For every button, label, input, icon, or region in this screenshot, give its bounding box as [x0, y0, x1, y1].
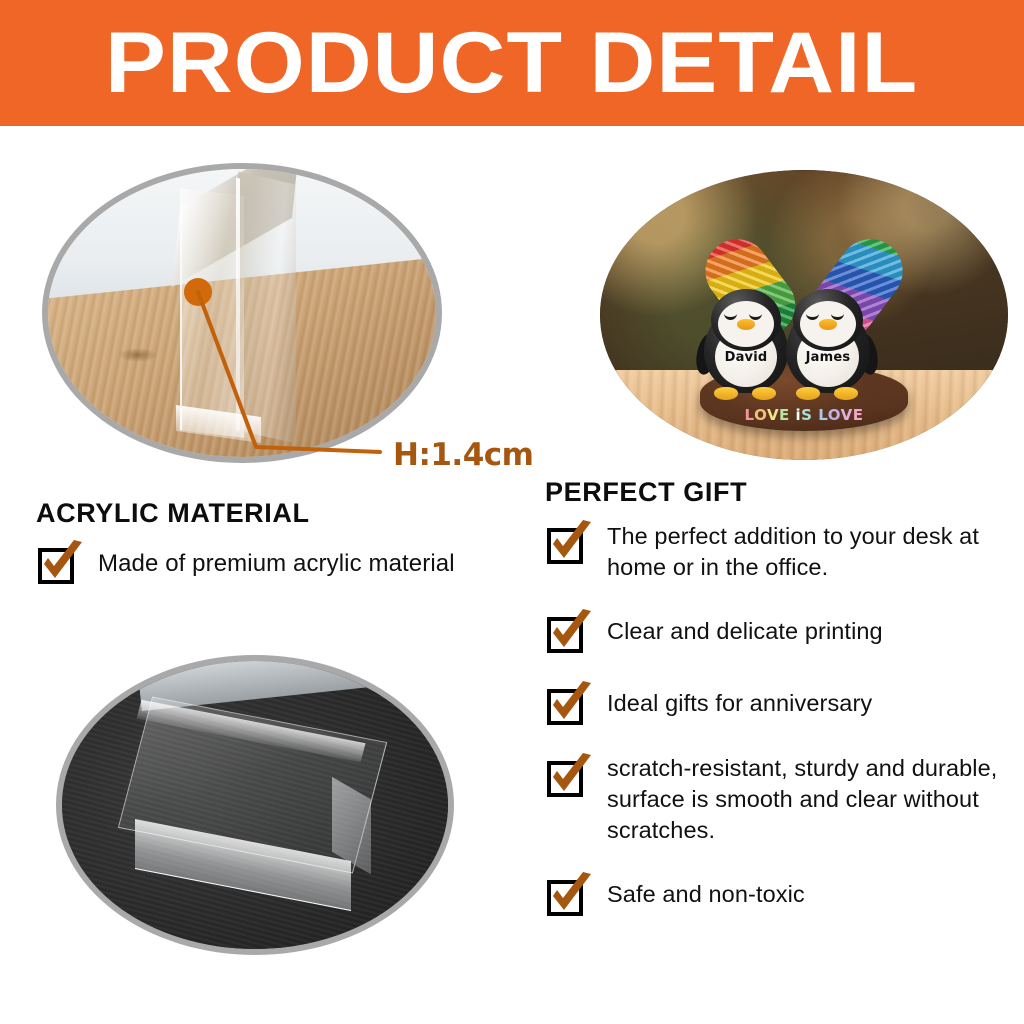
list-item-label: Clear and delicate printing: [607, 609, 883, 647]
feature-list-acrylic-material: Made of premium acrylic material: [36, 540, 506, 612]
penguin-figure-right: James: [786, 289, 870, 393]
checkmark-icon: [545, 520, 597, 566]
feature-list-perfect-gift: The perfect addition to your desk at hom…: [545, 520, 1010, 944]
dimension-label-height: H:1.4cm: [393, 437, 533, 473]
base-caption-love-is-love: LOVE iS LOVE: [745, 406, 864, 424]
page-title: PRODUCT DETAIL: [105, 20, 918, 106]
checkmark-icon: [36, 540, 88, 586]
penguin-figure-left: David: [704, 289, 788, 393]
list-item: The perfect addition to your desk at hom…: [545, 520, 1010, 583]
penguin-name-left: David: [725, 350, 768, 365]
list-item: scratch-resistant, sturdy and durable, s…: [545, 753, 1010, 846]
checkbox-checked-icon: [545, 520, 597, 566]
list-item: Safe and non-toxic: [545, 872, 1010, 918]
list-item-label: scratch-resistant, sturdy and durable, s…: [607, 753, 1010, 846]
penguin-couple-figurine-photo: LOVE iS LOVE David James: [600, 170, 1008, 460]
checkbox-checked-icon: [545, 872, 597, 918]
section-heading-perfect-gift: PERFECT GIFT: [545, 477, 747, 508]
list-item-label: The perfect addition to your desk at hom…: [607, 520, 1010, 583]
acrylic-edge-highlight: [236, 177, 240, 431]
penguin-name-right: James: [806, 350, 851, 365]
list-item: Made of premium acrylic material: [36, 540, 506, 586]
list-item: Clear and delicate printing: [545, 609, 1010, 655]
checkmark-icon: [545, 609, 597, 655]
checkmark-icon: [545, 753, 597, 799]
wood-grain-knot: [118, 348, 158, 362]
acrylic-block-front-face: [180, 188, 244, 438]
acrylic-block-on-slate-photo: [56, 655, 454, 955]
checkbox-checked-icon: [545, 609, 597, 655]
list-item-label: Safe and non-toxic: [607, 872, 805, 910]
checkbox-checked-icon: [36, 540, 88, 586]
list-item-label: Ideal gifts for anniversary: [607, 681, 872, 719]
acrylic-edge-on-wood-photo: [42, 163, 442, 463]
list-item-label: Made of premium acrylic material: [98, 540, 455, 579]
acrylic-block-side-face: [238, 171, 296, 444]
checkbox-checked-icon: [545, 681, 597, 727]
header-banner: PRODUCT DETAIL: [0, 0, 1024, 126]
section-heading-acrylic-material: ACRYLIC MATERIAL: [36, 498, 310, 529]
checkmark-icon: [545, 681, 597, 727]
checkbox-checked-icon: [545, 753, 597, 799]
checkmark-icon: [545, 872, 597, 918]
list-item: Ideal gifts for anniversary: [545, 681, 1010, 727]
